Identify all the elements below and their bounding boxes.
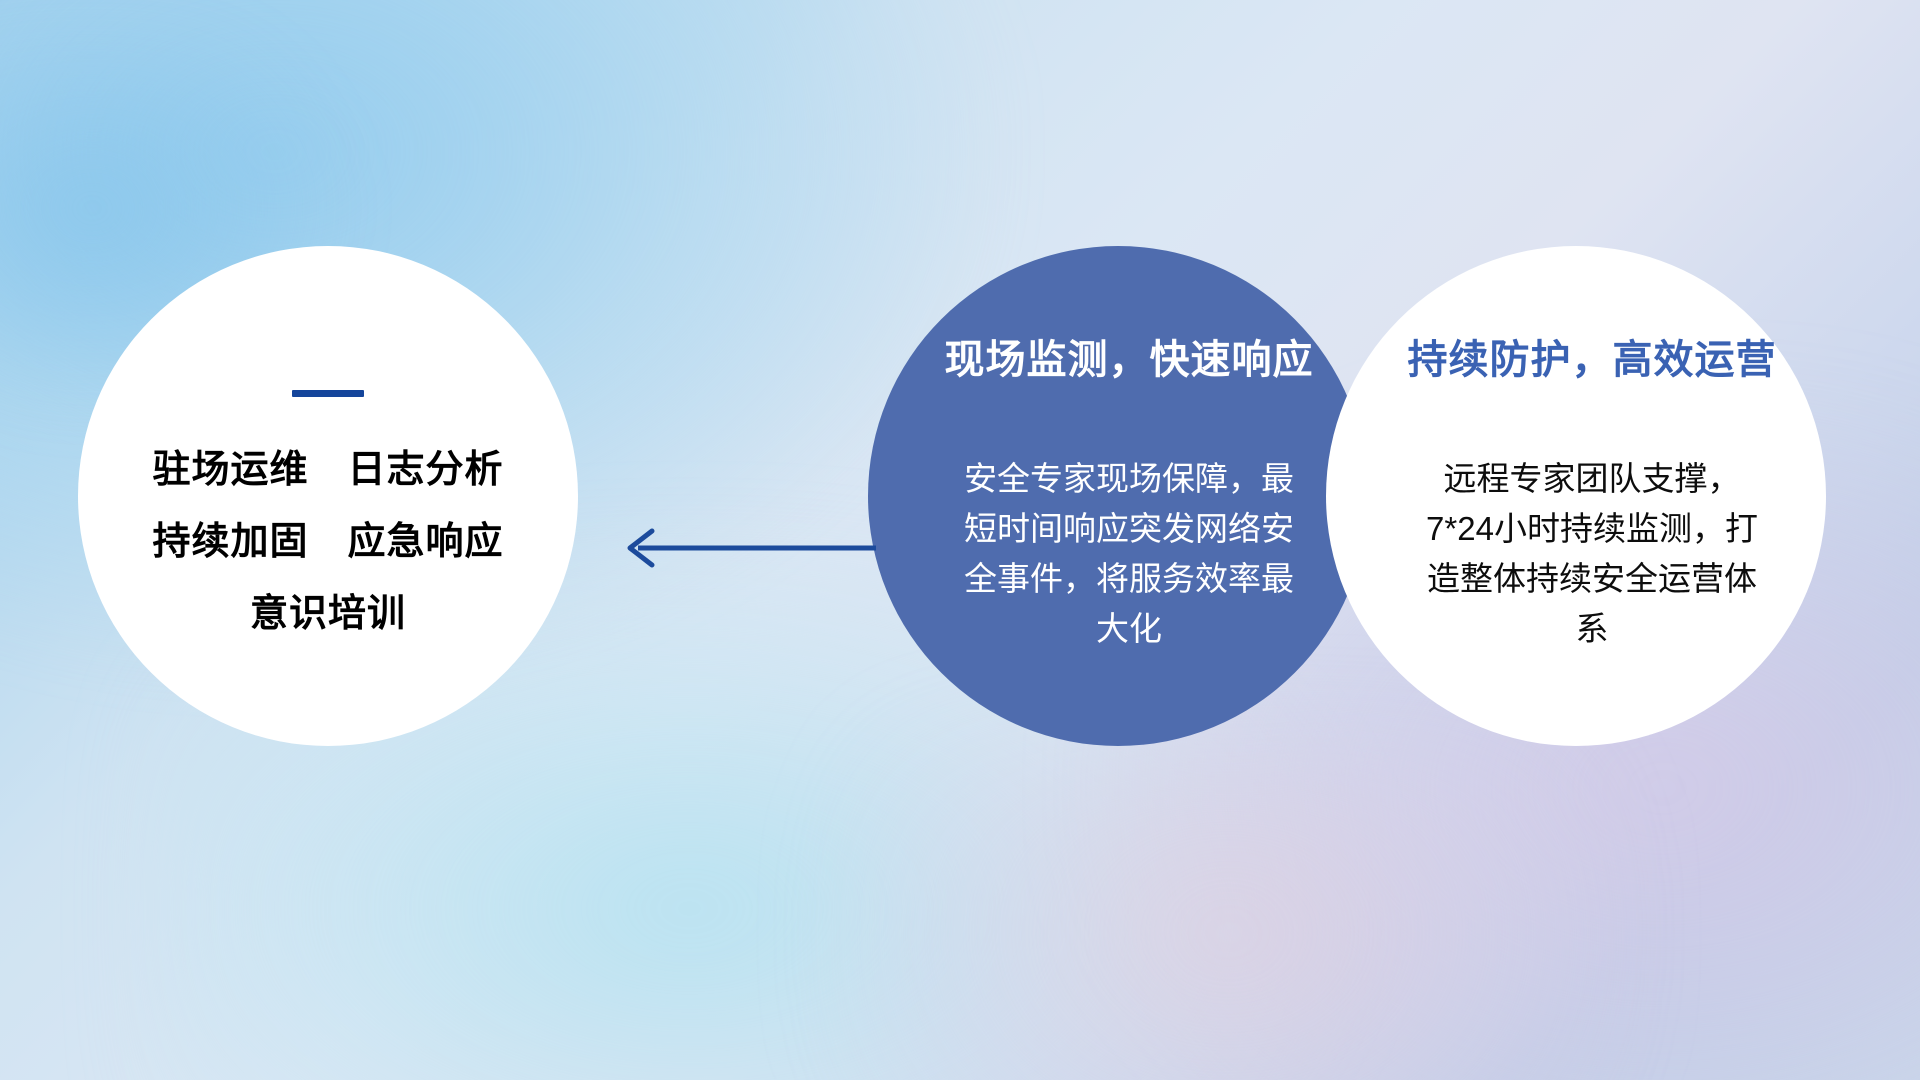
onsite-title: 现场监测，快速响应	[945, 338, 1314, 382]
onsite-monitoring-circle[interactable]: 现场监测，快速响应 安全专家现场保障，最短时间响应突发网络安全事件，将服务效率最…	[868, 246, 1368, 746]
service-line-3: 意识培训	[250, 595, 406, 633]
background-glow-bottom-right	[845, 734, 1613, 1080]
services-circle[interactable]: 驻场运维 日志分析 持续加固 应急响应 意识培训	[78, 246, 578, 746]
service-line-1: 驻场运维 日志分析	[152, 451, 503, 489]
onsite-body-text: 安全专家现场保障，最短时间响应突发网络安全事件，将服务效率最大化	[964, 454, 1294, 655]
remote-title: 持续防护，高效运营	[1408, 338, 1777, 382]
remote-body-text: 远程专家团队支撑，7*24小时持续监测，打造整体持续安全运营体系	[1417, 454, 1767, 655]
flow-arrow-left-icon	[612, 516, 880, 580]
divider-rule	[292, 390, 364, 397]
remote-operations-circle[interactable]: 持续防护，高效运营 远程专家团队支撑，7*24小时持续监测，打造整体持续安全运营…	[1326, 246, 1826, 746]
onsite-content: 现场监测，快速响应 安全专家现场保障，最短时间响应突发网络安全事件，将服务效率最…	[868, 246, 1368, 746]
service-line-2: 持续加固 应急响应	[152, 523, 503, 561]
slide-canvas: 现场监测，快速响应 安全专家现场保障，最短时间响应突发网络安全事件，将服务效率最…	[0, 0, 1920, 1080]
services-content: 驻场运维 日志分析 持续加固 应急响应 意识培训	[78, 246, 578, 746]
remote-content: 持续防护，高效运营 远程专家团队支撑，7*24小时持续监测，打造整体持续安全运营…	[1326, 246, 1826, 746]
